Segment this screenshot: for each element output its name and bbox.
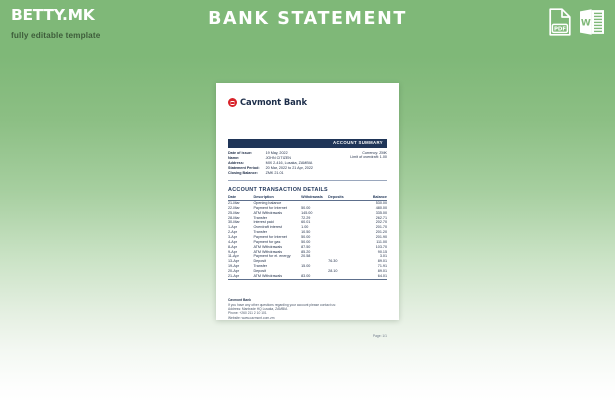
- format-icon-group: PDF W: [549, 8, 605, 41]
- pdf-file-icon[interactable]: PDF: [549, 8, 571, 41]
- summary-field-label: Closing Balance:: [228, 171, 266, 176]
- transactions-table: Date Description Withdrawals Deposits Ba…: [228, 195, 387, 280]
- word-file-icon[interactable]: W: [579, 8, 605, 41]
- brand-tagline: fully editable template: [11, 31, 100, 40]
- svg-text:W: W: [581, 18, 591, 28]
- account-summary-meta: Currency: ZMK Limit of overdraft: 1.00: [350, 151, 387, 177]
- cell-deposit: [328, 273, 358, 279]
- cell-description: ATM Withdrawals: [253, 273, 301, 279]
- svg-text:PDF: PDF: [554, 27, 566, 33]
- bank-logo-icon: [228, 98, 237, 107]
- bank-logo: Cavmont Bank: [228, 97, 387, 107]
- cell-date: 21-Apr: [228, 273, 253, 279]
- bank-name: Cavmont Bank: [240, 97, 307, 107]
- transactions-table-body: 21-MarOpening balance530.0022-MarPayment…: [228, 200, 387, 280]
- cell-withdrawal: 83.00: [301, 273, 328, 279]
- page-header-bar: BETTY.MK fully editable template BANK ST…: [0, 0, 615, 52]
- transactions-section-title: ACCOUNT TRANSACTION DETAILS: [228, 187, 387, 193]
- summary-field-value: ZMK 21.01: [266, 171, 313, 176]
- summary-field: Closing Balance: ZMK 21.01: [228, 171, 313, 176]
- account-summary-fields: Date of issue: 19 May, 2022 Name: JOHN C…: [228, 151, 313, 177]
- account-summary-body: Date of issue: 19 May, 2022 Name: JOHN C…: [228, 151, 387, 182]
- account-summary-header: ACCOUNT SUMMARY: [228, 139, 387, 148]
- document-footer: Cavmont Bank If you have any other quest…: [228, 298, 387, 320]
- page-title: BANK STATEMENT: [0, 9, 615, 29]
- table-row: 21-AprATM Withdrawals83.0064.01: [228, 273, 387, 279]
- footer-website: Website: www.cavmont.com.zm: [228, 316, 387, 320]
- bank-statement-document[interactable]: Cavmont Bank ACCOUNT SUMMARY Date of iss…: [216, 83, 399, 320]
- cell-balance: 64.01: [358, 273, 387, 279]
- overdraft-line: Limit of overdraft: 1.00: [350, 155, 387, 160]
- page-number: Page: 1/1: [228, 334, 387, 338]
